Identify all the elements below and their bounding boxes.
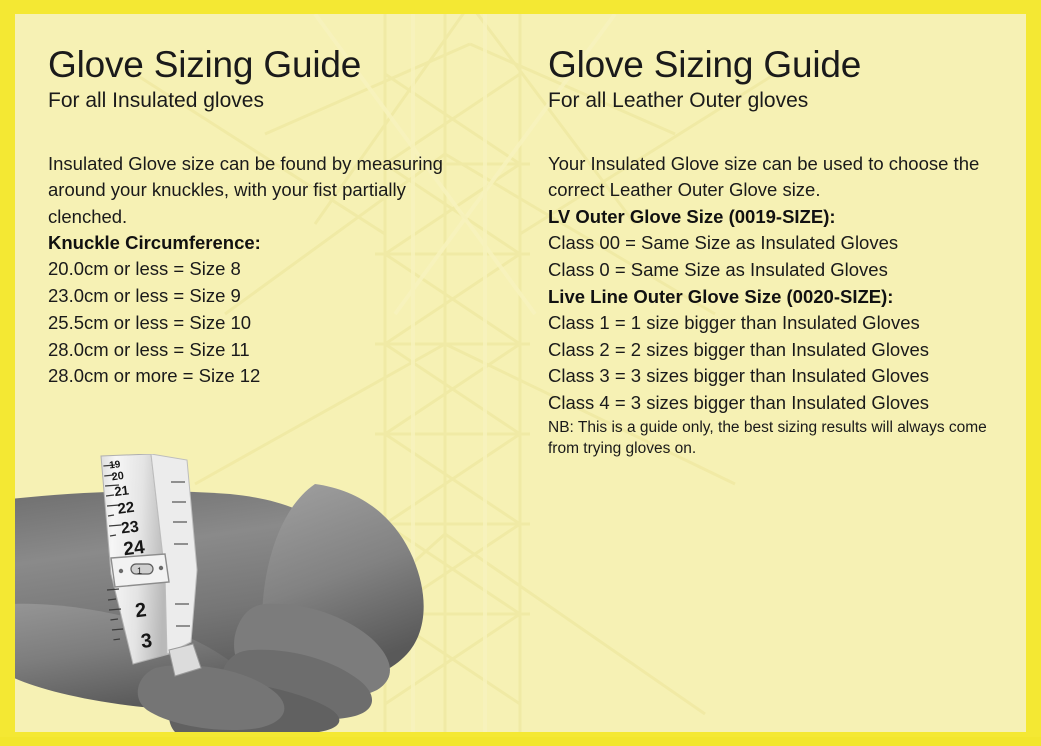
list-item: 23.0cm or less = Size 9 — [48, 283, 478, 310]
live-line-outer-glove-heading: Live Line Outer Glove Size (0020-SIZE): — [548, 284, 1018, 310]
left-page-title: Glove Sizing Guide — [48, 14, 478, 83]
left-subtitle: For all Insulated gloves — [48, 89, 478, 113]
right-page-title: Glove Sizing Guide — [548, 14, 1018, 83]
list-item: Class 3 = 3 sizes bigger than Insulated … — [548, 363, 1018, 390]
knuckle-circumference-heading: Knuckle Circumference: — [48, 230, 478, 256]
svg-text:1: 1 — [137, 566, 142, 576]
live-line-outer-glove-list: Class 1 = 1 size bigger than Insulated G… — [548, 310, 1018, 417]
list-item: Class 4 = 3 sizes bigger than Insulated … — [548, 390, 1018, 417]
svg-text:21: 21 — [114, 482, 130, 499]
list-item: 28.0cm or more = Size 12 — [48, 363, 478, 390]
right-intro-paragraph: Your Insulated Glove size can be used to… — [548, 151, 1018, 204]
list-item: 28.0cm or less = Size 11 — [48, 337, 478, 364]
svg-text:23: 23 — [120, 518, 140, 537]
right-column: Glove Sizing Guide For all Leather Outer… — [548, 14, 1018, 460]
lv-outer-glove-list: Class 00 = Same Size as Insulated Gloves… — [548, 230, 1018, 284]
sizing-guide-card: Glove Sizing Guide For all Insulated glo… — [0, 0, 1041, 746]
list-item: Class 0 = Same Size as Insulated Gloves — [548, 257, 1018, 284]
left-intro-paragraph: Insulated Glove size can be found by mea… — [48, 151, 478, 230]
right-subtitle: For all Leather Outer gloves — [548, 89, 1018, 113]
list-item: 25.5cm or less = Size 10 — [48, 310, 478, 337]
svg-text:20: 20 — [111, 470, 125, 483]
hand-measurement-photo: 19 20 21 22 23 24 2 3 1 — [15, 454, 445, 732]
nb-note: NB: This is a guide only, the best sizin… — [548, 417, 1018, 460]
knuckle-size-list: 20.0cm or less = Size 8 23.0cm or less =… — [48, 256, 478, 390]
list-item: 20.0cm or less = Size 8 — [48, 256, 478, 283]
list-item: Class 2 = 2 sizes bigger than Insulated … — [548, 337, 1018, 364]
card-panel: Glove Sizing Guide For all Insulated glo… — [15, 14, 1026, 732]
list-item: Class 00 = Same Size as Insulated Gloves — [548, 230, 1018, 257]
list-item: Class 1 = 1 size bigger than Insulated G… — [548, 310, 1018, 337]
svg-text:22: 22 — [117, 499, 136, 518]
left-column: Glove Sizing Guide For all Insulated glo… — [48, 14, 478, 390]
bottom-accent-strip — [0, 737, 1041, 746]
lv-outer-glove-heading: LV Outer Glove Size (0019-SIZE): — [548, 204, 1018, 230]
